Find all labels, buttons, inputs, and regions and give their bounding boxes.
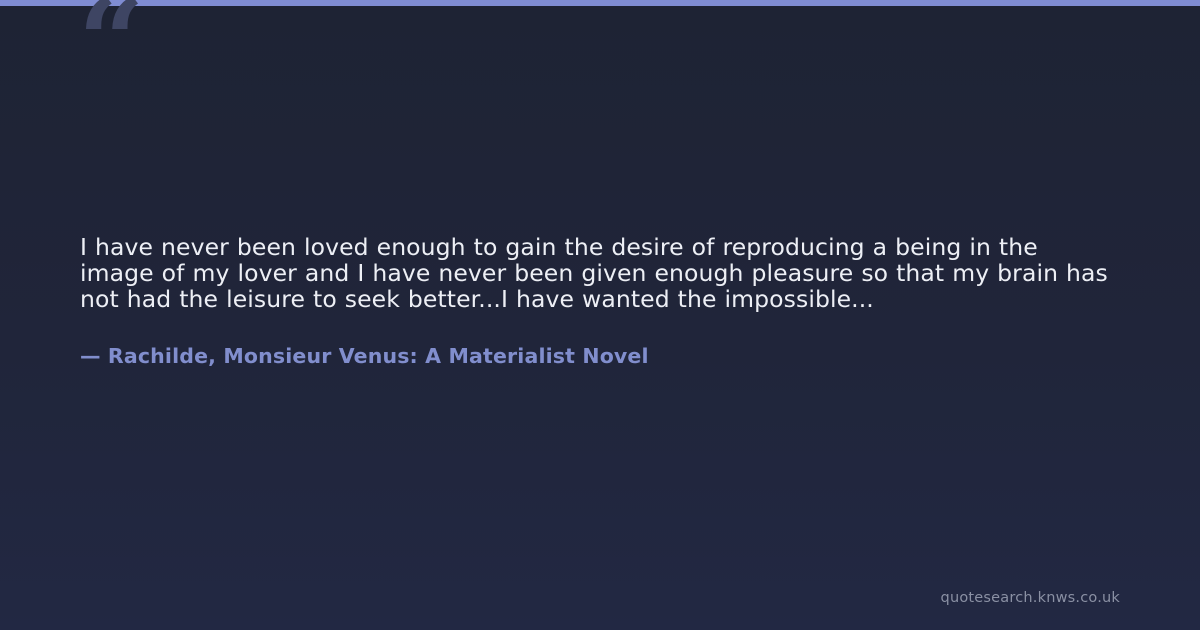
quote-card: “ I have never been loved enough to gain… <box>0 0 1200 630</box>
quote-text: I have never been loved enough to gain t… <box>80 234 1115 312</box>
card-body: “ I have never been loved enough to gain… <box>0 6 1200 630</box>
quote-attribution: — Rachilde, Monsieur Venus: A Materialis… <box>80 312 1115 369</box>
source-url-label: quotesearch.knws.co.uk <box>941 589 1120 607</box>
quotation-mark-icon: “ <box>78 0 143 100</box>
quote-block: I have never been loved enough to gain t… <box>80 234 1115 369</box>
